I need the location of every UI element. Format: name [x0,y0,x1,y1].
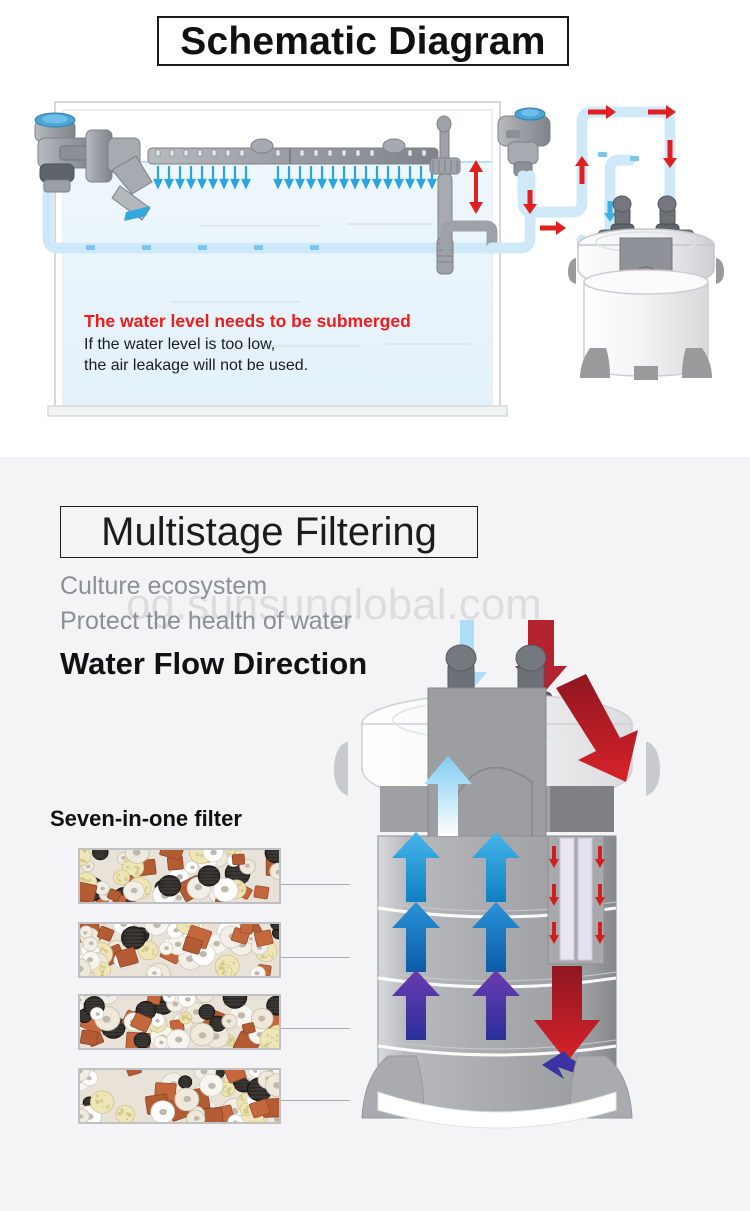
canister-cutaway-illustration [320,640,740,1200]
multistage-title: Multistage Filtering [101,512,437,552]
water-level-caption: The water level needs to be submerged If… [84,310,411,376]
schematic-title: Schematic Diagram [180,22,545,61]
subtitle-line-2: Protect the health of water [60,607,352,636]
filter-media-stage-1 [78,848,281,904]
filter-media-stage-2 [78,922,281,978]
seven-in-one-label: Seven-in-one filter [50,806,242,832]
page-root: Schematic Diagram [0,0,750,1211]
multistage-title-box: Multistage Filtering [60,506,478,558]
subtitle-line-1: Culture ecosystem [60,572,267,601]
double-tap-connector [498,108,550,176]
filter-media-stage-3 [78,994,281,1050]
caption-line-2: If the water level is too low, [84,334,411,355]
caption-warning: The water level needs to be submerged [84,310,411,334]
canister-filter [568,196,724,380]
schematic-illustration [0,90,750,470]
filter-media-stage-4 [78,1068,281,1124]
schematic-section: Schematic Diagram [0,0,750,457]
caption-line-3: the air leakage will not be used. [84,355,411,376]
schematic-title-box: Schematic Diagram [157,16,569,66]
